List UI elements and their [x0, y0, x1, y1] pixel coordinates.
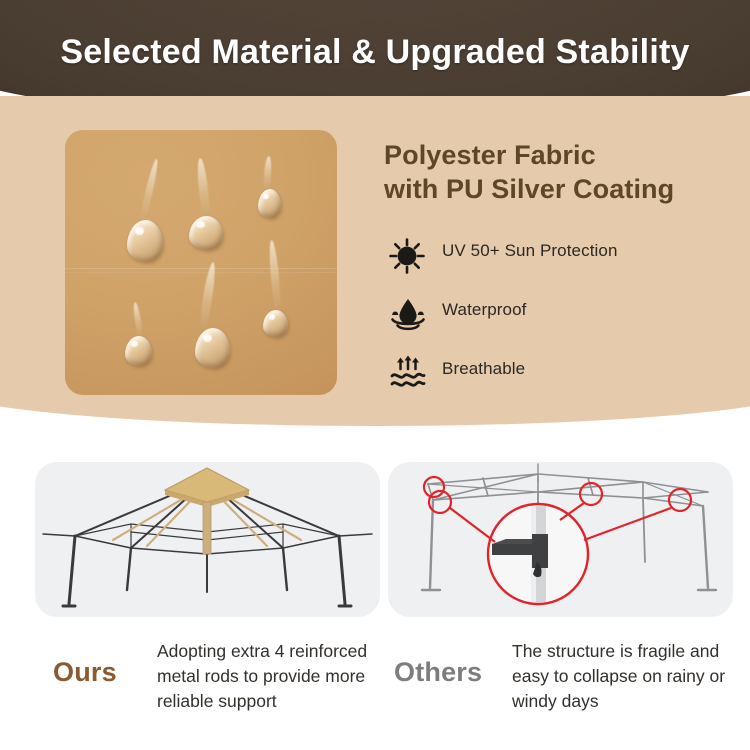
- feature-list: UV 50+ Sun Protection Waterproof: [384, 233, 736, 410]
- feature-uv-protection: UV 50+ Sun Protection: [384, 233, 736, 292]
- feature-breathable: Breathable: [384, 351, 736, 410]
- comparison-panel-others: Others The structure is fragile and easy…: [388, 462, 733, 739]
- feature-waterproof: Waterproof: [384, 292, 736, 351]
- water-drop-icon: [386, 294, 430, 336]
- ours-description: Adopting extra 4 reinforced metal rods t…: [157, 639, 385, 714]
- feature-label: Waterproof: [442, 300, 526, 320]
- others-caption: Others The structure is fragile and easy…: [388, 639, 733, 739]
- sun-icon: [386, 235, 430, 277]
- others-label: Others: [394, 657, 510, 688]
- ours-caption: Ours Adopting extra 4 reinforced metal r…: [35, 639, 380, 739]
- comparison-panel-ours: Ours Adopting extra 4 reinforced metal r…: [35, 462, 380, 739]
- page-title: Selected Material & Upgraded Stability: [0, 33, 750, 72]
- material-heading-line2: with PU Silver Coating: [384, 172, 736, 206]
- feature-label: UV 50+ Sun Protection: [442, 241, 618, 261]
- infographic-page: Selected Material & Upgraded Stability: [0, 0, 750, 750]
- water-beading-photo: [65, 130, 337, 395]
- ours-label: Ours: [53, 657, 169, 688]
- ours-gazebo-image: [35, 462, 380, 617]
- material-heading: Polyester Fabric with PU Silver Coating: [384, 138, 736, 207]
- feature-label: Breathable: [442, 359, 525, 379]
- material-heading-line1: Polyester Fabric: [384, 138, 736, 172]
- others-description: The structure is fragile and easy to col…: [512, 639, 734, 714]
- breathable-waves-icon: [386, 353, 430, 395]
- others-gazebo-image: [388, 462, 733, 617]
